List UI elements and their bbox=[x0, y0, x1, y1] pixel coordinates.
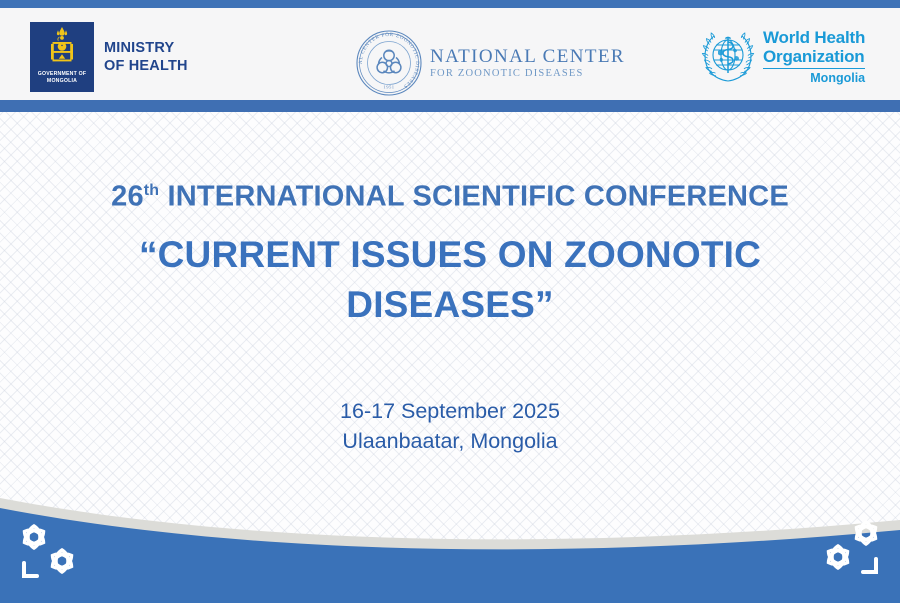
who-name-line2: Organization bbox=[763, 47, 865, 66]
ministry-of-health-logo: GOVERNMENT OF MONGOLIA MINISTRY OF HEALT… bbox=[30, 22, 188, 92]
nczd-logo: NATIONAL CENTER FOR ZOONOTIC DISEASES 19… bbox=[352, 26, 625, 100]
mongolian-ulzii-knot-ornament-icon bbox=[12, 517, 98, 585]
conference-ordinal: th bbox=[144, 182, 159, 199]
biohazard-seal-icon: NATIONAL CENTER FOR ZOONOTIC DISEASES 19… bbox=[352, 26, 426, 100]
moh-emblem-caption-line2: MONGOLIA bbox=[47, 78, 77, 84]
conference-number: 26 bbox=[111, 181, 144, 213]
mongolia-state-emblem-soyombo-icon: GOVERNMENT OF MONGOLIA bbox=[30, 22, 94, 92]
event-details: 16-17 September 2025 Ulaanbaatar, Mongol… bbox=[340, 396, 560, 456]
event-location: Ulaanbaatar, Mongolia bbox=[340, 426, 560, 456]
main-content: 26th INTERNATIONAL SCIENTIFIC CONFERENCE… bbox=[0, 112, 900, 492]
bottom-accent-bar bbox=[0, 593, 900, 603]
who-country-label: Mongolia bbox=[763, 71, 865, 85]
logo-row: GOVERNMENT OF MONGOLIA MINISTRY OF HEALT… bbox=[0, 8, 900, 100]
top-accent-bar bbox=[0, 0, 900, 8]
header-divider-bar bbox=[0, 100, 900, 112]
conference-heading: 26th INTERNATIONAL SCIENTIFIC CONFERENCE bbox=[111, 174, 789, 214]
nczd-name-line1: NATIONAL CENTER bbox=[430, 47, 625, 66]
moh-name-line1: MINISTRY bbox=[104, 39, 188, 57]
svg-text:1951: 1951 bbox=[383, 85, 394, 90]
bottom-wave-decoration bbox=[0, 478, 900, 603]
conference-heading-text: INTERNATIONAL SCIENTIFIC CONFERENCE bbox=[159, 181, 789, 213]
nczd-name-line2: FOR ZOONOTIC DISEASES bbox=[430, 69, 625, 80]
moh-emblem-caption-line1: GOVERNMENT OF bbox=[38, 71, 86, 77]
event-date: 16-17 September 2025 bbox=[340, 396, 560, 426]
who-logo: World Health Organization Mongolia bbox=[700, 28, 865, 85]
conference-title-slide: GOVERNMENT OF MONGOLIA MINISTRY OF HEALT… bbox=[0, 0, 900, 603]
moh-name-line2: OF HEALTH bbox=[104, 57, 188, 75]
who-emblem-icon bbox=[700, 29, 756, 85]
conference-topic-title: “CURRENT ISSUES ON ZOONOTIC DISEASES” bbox=[100, 230, 800, 330]
ministry-of-health-name: MINISTRY OF HEALTH bbox=[104, 39, 188, 75]
who-name-line1: World Health bbox=[763, 28, 865, 47]
who-rule bbox=[763, 68, 865, 69]
mongolian-ulzii-knot-ornament-icon bbox=[802, 513, 888, 581]
